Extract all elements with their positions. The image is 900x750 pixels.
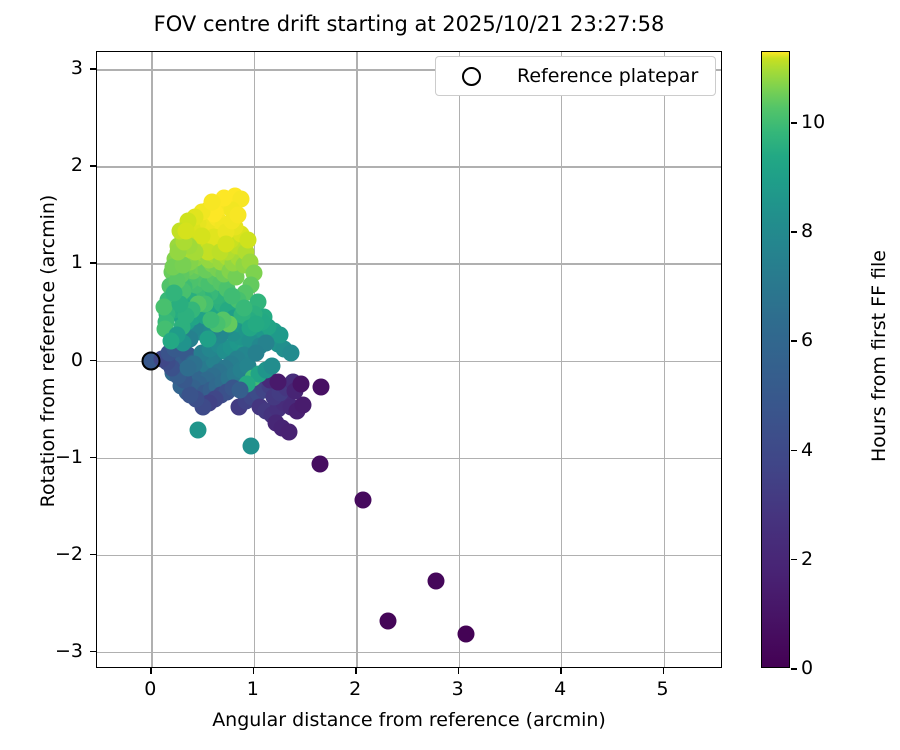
scatter-point <box>247 315 264 332</box>
x-axis-tick <box>355 668 357 674</box>
plot-area <box>96 51 722 668</box>
y-axis-tick <box>90 262 96 264</box>
scatter-point <box>312 456 329 473</box>
scatter-point <box>202 311 219 328</box>
scatter-point <box>218 236 235 253</box>
x-axis-tick-label: 5 <box>657 678 669 700</box>
y-axis-tick-label: 3 <box>71 57 83 79</box>
scatter-point <box>282 344 299 361</box>
scatter-point <box>313 378 330 395</box>
y-axis-tick-label: −1 <box>55 446 83 468</box>
scatter-point <box>355 492 372 509</box>
y-axis-label: Rotation from reference (arcmin) <box>37 41 59 661</box>
x-axis-tick <box>663 668 665 674</box>
colorbar <box>761 51 790 668</box>
scatter-point <box>280 424 297 441</box>
colorbar-tick-label: 8 <box>801 220 813 242</box>
colorbar-tick-label: 0 <box>801 657 813 679</box>
scatter-point <box>190 422 207 439</box>
x-axis-tick <box>253 668 255 674</box>
colorbar-tick-label: 6 <box>801 329 813 351</box>
colorbar-tick-label: 2 <box>801 548 813 570</box>
scatter-point <box>180 360 197 377</box>
scatter-point <box>199 331 216 348</box>
colorbar-tick-label: 4 <box>801 439 813 461</box>
colorbar-label: Hours from first FF file <box>868 46 890 666</box>
scatter-point <box>428 572 445 589</box>
scatter-point <box>239 232 256 249</box>
legend-open-circle-icon <box>462 67 481 86</box>
scatter-point <box>379 613 396 630</box>
figure: FOV centre drift starting at 2025/10/21 … <box>0 0 900 750</box>
gridline-horizontal <box>97 555 721 556</box>
y-axis-tick-label: 1 <box>71 251 83 273</box>
y-axis-tick-label: −3 <box>55 640 83 662</box>
x-axis-tick <box>560 668 562 674</box>
scatter-point <box>235 300 252 317</box>
gridline-vertical <box>356 52 357 667</box>
scatter-point <box>292 375 309 392</box>
scatter-point <box>162 333 179 350</box>
gridline-horizontal <box>97 458 721 459</box>
y-axis-tick <box>90 68 96 70</box>
reference-platepar-marker <box>142 351 161 370</box>
x-axis-tick <box>150 668 152 674</box>
y-axis-tick-label: 0 <box>71 349 83 371</box>
gridline-vertical <box>459 52 460 667</box>
x-axis-tick <box>458 668 460 674</box>
x-axis-tick-label: 3 <box>452 678 464 700</box>
colorbar-tick <box>791 450 797 452</box>
y-axis-tick <box>90 360 96 362</box>
gridline-horizontal <box>97 652 721 653</box>
scatter-point <box>264 358 281 375</box>
scatter-point <box>247 344 264 361</box>
scatter-point <box>270 373 287 390</box>
colorbar-tick <box>791 340 797 342</box>
legend: Reference platepar <box>435 56 716 96</box>
scatter-point <box>232 381 249 398</box>
colorbar-tick <box>791 122 797 124</box>
y-axis-tick-label: −2 <box>55 543 83 565</box>
y-axis-tick <box>90 457 96 459</box>
legend-entry-label: Reference platepar <box>517 65 698 87</box>
scatter-point <box>294 397 311 414</box>
scatter-point <box>182 387 199 404</box>
colorbar-tick <box>791 231 797 233</box>
scatter-point <box>230 206 247 223</box>
chart-title: FOV centre drift starting at 2025/10/21 … <box>96 12 722 36</box>
scatter-point <box>165 284 182 301</box>
y-axis-tick <box>90 165 96 167</box>
x-axis-tick-label: 1 <box>247 678 259 700</box>
gridline-vertical <box>664 52 665 667</box>
colorbar-tick <box>791 668 797 670</box>
x-axis-tick-label: 4 <box>554 678 566 700</box>
y-axis-tick <box>90 554 96 556</box>
scatter-point <box>178 223 195 240</box>
x-axis-label: Angular distance from reference (arcmin) <box>96 709 722 731</box>
gridline-horizontal <box>97 166 721 167</box>
y-axis-tick <box>90 651 96 653</box>
x-axis-tick-label: 0 <box>144 678 156 700</box>
y-axis-tick-label: 2 <box>71 154 83 176</box>
scatter-point <box>457 626 474 643</box>
scatter-point <box>242 437 259 454</box>
colorbar-tick <box>791 559 797 561</box>
scatter-point <box>155 299 172 316</box>
gridline-vertical <box>561 52 562 667</box>
x-axis-tick-label: 2 <box>349 678 361 700</box>
colorbar-tick-label: 10 <box>801 111 825 133</box>
scatter-point <box>203 194 220 211</box>
